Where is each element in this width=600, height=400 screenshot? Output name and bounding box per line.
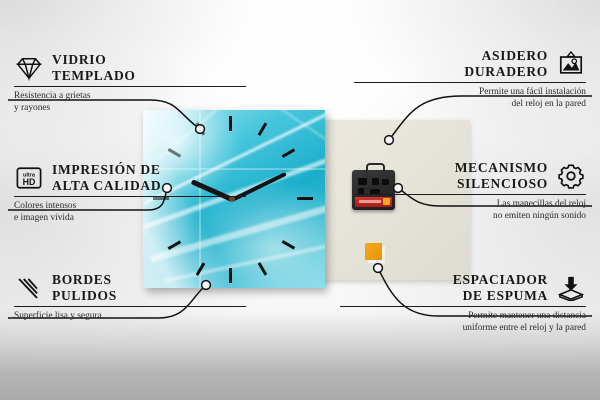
feature-divider <box>340 306 586 307</box>
feature-divider <box>14 196 246 197</box>
feature-asidero-duradero[interactable]: ASIDERO DURADERO Permite una fácil insta… <box>354 48 586 110</box>
feature-header: ultra HD IMPRESIÓN DE ALTA CALIDAD <box>14 162 246 193</box>
feature-divider <box>354 82 586 83</box>
ultra-hd-icon: ultra HD <box>14 165 44 191</box>
feature-title-line2: PULIDOS <box>52 288 117 304</box>
foam-spacer-arrow-icon <box>556 275 586 301</box>
svg-text:HD: HD <box>23 176 36 186</box>
feature-title-line1: ASIDERO <box>464 48 548 64</box>
feature-title-line1: VIDRIO <box>52 52 136 68</box>
feature-header: BORDES PULIDOS <box>14 272 246 303</box>
feature-header: ESPACIADOR DE ESPUMA <box>340 272 586 303</box>
polished-edges-icon <box>14 275 44 301</box>
feature-title-line2: TEMPLADO <box>52 68 136 84</box>
feature-mecanismo-silencioso[interactable]: MECANISMO SILENCIOSO Las manecillas del … <box>354 160 586 222</box>
feature-vidrio-templado[interactable]: VIDRIO TEMPLADO Resistencia a grietas y … <box>14 52 246 114</box>
feature-divider <box>14 306 246 307</box>
feature-description: Las manecillas del reloj no emiten ningú… <box>354 199 586 222</box>
diamond-icon <box>14 55 44 81</box>
feature-title-line2: DE ESPUMA <box>453 288 548 304</box>
feature-divider <box>354 194 586 195</box>
infographic-canvas: VIDRIO TEMPLADO Resistencia a grietas y … <box>0 0 600 400</box>
feature-title-line2: DURADERO <box>464 64 548 80</box>
feature-bordes-pulidos[interactable]: BORDES PULIDOS Superficie lisa y segura <box>14 272 246 323</box>
feature-title-line2: ALTA CALIDAD <box>52 178 161 194</box>
framed-picture-hook-icon <box>556 51 586 77</box>
feature-description: Resistencia a grietas y rayones <box>14 91 246 114</box>
feature-description: Superficie lisa y segura <box>14 311 246 322</box>
clock-tick <box>297 197 313 200</box>
feature-title-line2: SILENCIOSO <box>455 176 548 192</box>
gear-icon <box>556 163 586 189</box>
feature-title-line1: ESPACIADOR <box>453 272 548 288</box>
feature-divider <box>14 86 246 87</box>
feature-title-line1: BORDES <box>52 272 117 288</box>
feature-description: Permite mantener una distancia uniforme … <box>340 311 586 334</box>
feature-title-line1: IMPRESIÓN DE <box>52 162 161 178</box>
feature-impresion-alta-calidad[interactable]: ultra HD IMPRESIÓN DE ALTA CALIDAD Color… <box>14 162 246 224</box>
feature-title: IMPRESIÓN DE ALTA CALIDAD <box>52 162 161 193</box>
feature-description: Permite una fácil instalación del reloj … <box>354 87 586 110</box>
clock-tick <box>229 116 232 131</box>
feature-header: MECANISMO SILENCIOSO <box>354 160 586 191</box>
feature-espaciador-de-espuma[interactable]: ESPACIADOR DE ESPUMA Permite mantener un… <box>340 272 586 334</box>
feature-header: VIDRIO TEMPLADO <box>14 52 246 83</box>
feature-title: ESPACIADOR DE ESPUMA <box>453 272 548 303</box>
feature-title: BORDES PULIDOS <box>52 272 117 303</box>
feature-title: MECANISMO SILENCIOSO <box>455 160 548 191</box>
feature-title: VIDRIO TEMPLADO <box>52 52 136 83</box>
feature-header: ASIDERO DURADERO <box>354 48 586 79</box>
foam-spacer-piece <box>365 243 382 260</box>
feature-title: ASIDERO DURADERO <box>464 48 548 79</box>
feature-description: Colores intensos e imagen vívida <box>14 201 246 224</box>
feature-title-line1: MECANISMO <box>455 160 548 176</box>
